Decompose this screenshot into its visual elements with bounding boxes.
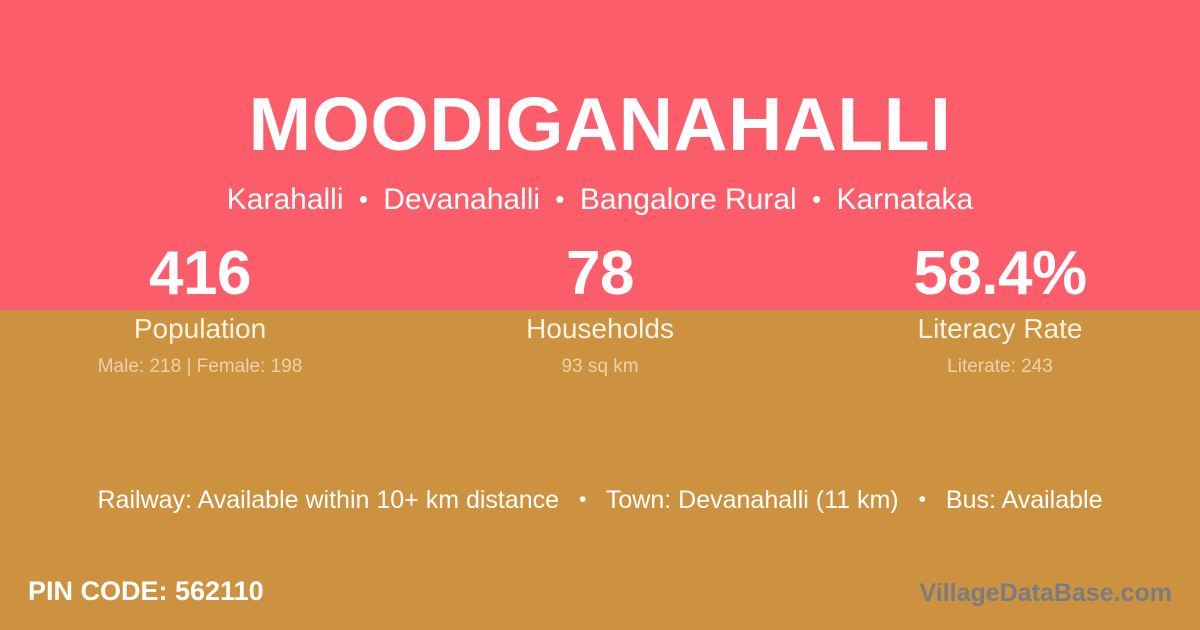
stat-sub-households: 93 sq km bbox=[400, 355, 800, 379]
breadcrumb-part-3: Karnataka bbox=[836, 183, 973, 216]
stat-value-households: 78 bbox=[400, 240, 800, 308]
stat-households: 78 Households 93 sq km bbox=[400, 240, 800, 379]
amenities-summary: Railway: Available within 10+ km distanc… bbox=[0, 483, 1200, 517]
breadcrumb-separator-icon: • bbox=[352, 184, 375, 214]
breadcrumb-part-0: Karahalli bbox=[227, 183, 344, 216]
stat-population: 416 Population Male: 218 | Female: 198 bbox=[0, 240, 400, 379]
breadcrumb-part-1: Devanahalli bbox=[383, 183, 540, 216]
amenity-bus: Bus: Available bbox=[946, 486, 1103, 514]
stat-label-literacy-rate: Literacy Rate bbox=[800, 312, 1200, 346]
amenity-separator-icon: • bbox=[566, 488, 599, 511]
breadcrumb-separator-icon: • bbox=[548, 184, 571, 214]
stat-literacy-rate: 58.4% Literacy Rate Literate: 243 bbox=[800, 240, 1200, 379]
card-footer: PIN CODE: 562110 VillageDataBase.com bbox=[0, 570, 1200, 630]
breadcrumb-part-2: Bangalore Rural bbox=[580, 183, 797, 216]
stat-value-literacy-rate: 58.4% bbox=[800, 240, 1200, 308]
stat-sub-population: Male: 218 | Female: 198 bbox=[0, 355, 400, 379]
pin-code: PIN CODE: 562110 bbox=[28, 574, 264, 608]
breadcrumb-separator-icon: • bbox=[805, 184, 828, 214]
breadcrumb: Karahalli • Devanahalli • Bangalore Rura… bbox=[0, 180, 1200, 219]
stat-label-households: Households bbox=[400, 312, 800, 346]
amenity-town: Town: Devanahalli (11 km) bbox=[606, 486, 899, 514]
statistics-row: 416 Population Male: 218 | Female: 198 7… bbox=[0, 240, 1200, 379]
stat-value-population: 416 bbox=[0, 240, 400, 308]
stat-label-population: Population bbox=[0, 312, 400, 346]
amenity-railway: Railway: Available within 10+ km distanc… bbox=[98, 486, 560, 514]
amenity-separator-icon: • bbox=[906, 488, 939, 511]
page-title: MOODIGANAHALLI bbox=[0, 82, 1200, 166]
stat-sub-literacy-rate: Literate: 243 bbox=[800, 355, 1200, 379]
village-info-card: MOODIGANAHALLI Karahalli • Devanahalli •… bbox=[0, 0, 1200, 630]
site-brand-logo: VillageDataBase.com bbox=[920, 578, 1172, 608]
